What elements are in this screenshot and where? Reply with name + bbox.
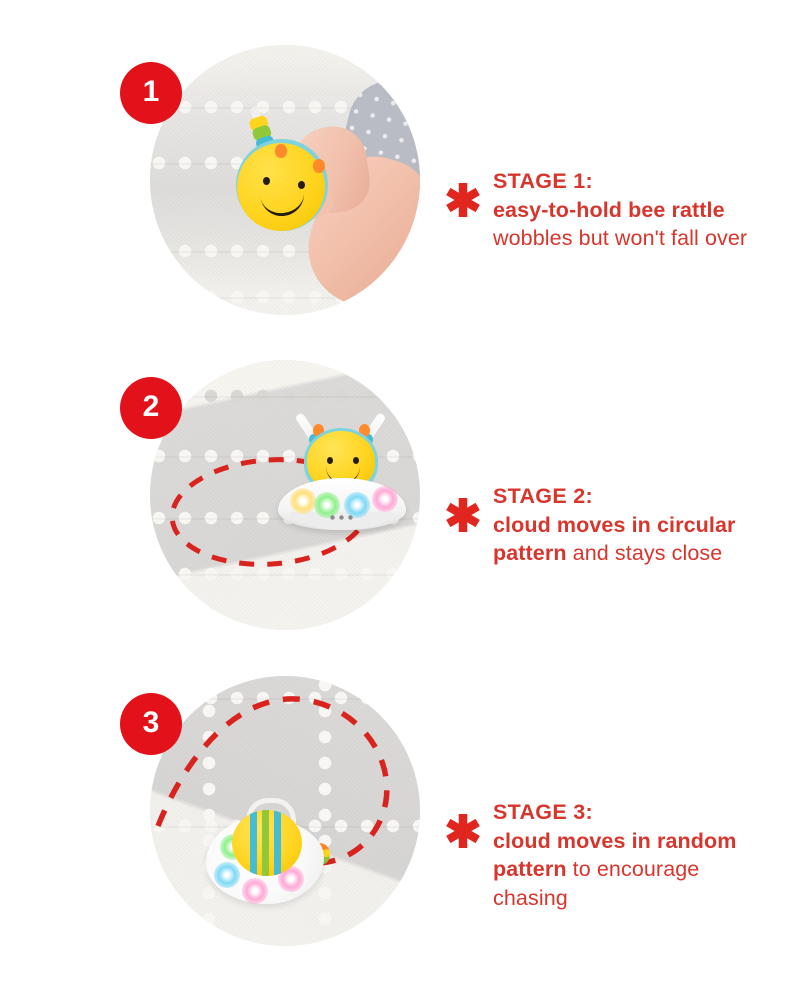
stage-copy-3: STAGE 3: cloud moves in random pattern t… <box>493 798 773 912</box>
led-light <box>242 878 268 904</box>
stage-text-2: STAGE 2: cloud moves in circular pattern… <box>443 482 773 568</box>
stage-number-label: 1 <box>143 77 160 107</box>
asterisk-icon <box>443 495 483 535</box>
stage-photo-1 <box>150 45 420 315</box>
stage-text-3: STAGE 3: cloud moves in random pattern t… <box>443 798 773 912</box>
stage-heading: STAGE 2: <box>493 484 593 508</box>
bee-rattle-toy <box>234 137 330 233</box>
stage-row-1: 1 STAGE 1: easy-to-hold bee rattle wobbl… <box>0 22 800 342</box>
stage-body-regular: wobbles but won't fall over <box>493 226 747 250</box>
led-light <box>214 862 240 888</box>
stage-copy-1: STAGE 1: easy-to-hold bee rattle wobbles… <box>493 167 773 253</box>
led-light <box>372 486 398 512</box>
stage-text-1: STAGE 1: easy-to-hold bee rattle wobbles… <box>443 167 773 253</box>
stage-heading: STAGE 3: <box>493 800 593 824</box>
stage-body-bold: easy-to-hold bee rattle <box>493 198 725 222</box>
stage-photo-3 <box>150 676 420 946</box>
stage-number-badge-3: 3 <box>120 693 182 755</box>
stage-number-badge-1: 1 <box>120 62 182 124</box>
cloud-bee-striped-toy <box>206 804 328 906</box>
stage-number-label: 2 <box>143 392 160 422</box>
asterisk-icon <box>443 811 483 851</box>
stage-row-3: 3 STAGE 3: cloud moves in random pattern… <box>0 653 800 973</box>
bee-body <box>232 810 302 876</box>
bee-antenna-icon <box>275 144 287 158</box>
asterisk-icon <box>443 180 483 220</box>
stage-row-2: 2 STAGE 2: cloud moves in circular patte… <box>0 337 800 657</box>
cloud-hovercraft-toy <box>278 428 406 532</box>
stage-copy-2: STAGE 2: cloud moves in circular pattern… <box>493 482 773 568</box>
stage-photo-2 <box>150 360 420 630</box>
stage-body-regular: and stays close <box>567 541 723 565</box>
stage-number-badge-2: 2 <box>120 377 182 439</box>
stage-heading: STAGE 1: <box>493 169 593 193</box>
led-light <box>290 488 316 514</box>
stage-number-label: 3 <box>143 708 160 738</box>
stage-infographic: 1 STAGE 1: easy-to-hold bee rattle wobbl… <box>0 0 800 1000</box>
bee-antenna-icon <box>313 159 325 173</box>
cloud-base <box>278 478 406 530</box>
cloud-vents <box>330 515 356 520</box>
